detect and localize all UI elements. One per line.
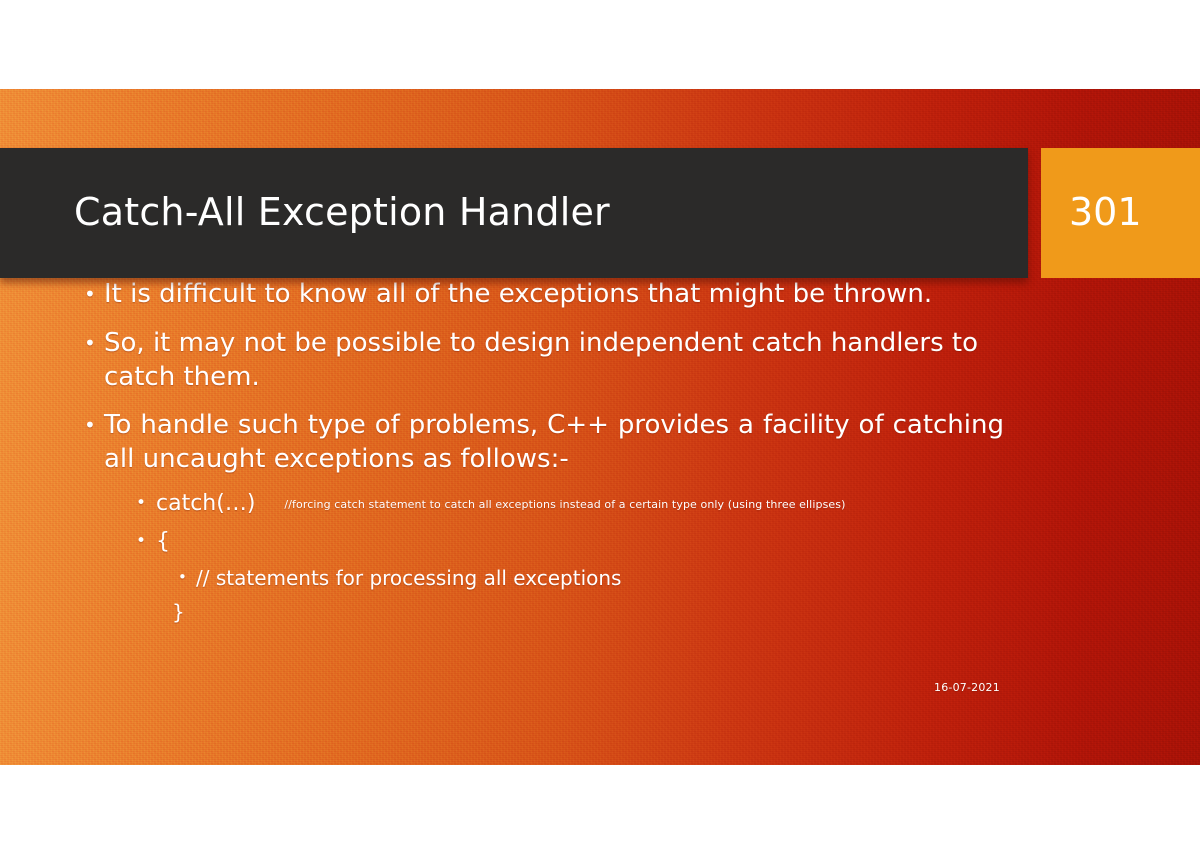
bullet-marker-icon: • [178,565,187,589]
slide-date-stamp: 16-07-2021 [934,681,1000,694]
slide-number-badge: 301 [1041,148,1200,278]
bullet-item-3: • To handle such type of problems, C++ p… [74,409,1004,477]
bullet-item-1: • It is difficult to know all of the exc… [74,278,1004,312]
code-line-open-brace: • { [130,528,1200,557]
bullet-text-2: So, it may not be possible to design ind… [104,328,978,392]
code-inner-statement: // statements for processing all excepti… [196,566,621,590]
bullet-list: • It is difficult to know all of the exc… [74,278,1004,477]
slide-body: • It is difficult to know all of the exc… [0,278,1200,625]
code-line-catch: • catch(…) //forcing catch statement to … [130,490,1200,519]
bullet-text-3: To handle such type of problems, C++ pro… [104,410,1004,474]
bullet-marker-icon: • [136,528,146,554]
code-inner-block: • // statements for processing all excep… [172,565,1200,591]
bullet-marker-icon: • [136,490,146,516]
slide-number: 301 [1041,192,1142,234]
code-block: • catch(…) //forcing catch statement to … [130,490,1200,556]
bullet-item-2: • So, it may not be possible to design i… [74,327,1004,395]
code-catch-keyword: catch(…) [156,491,255,516]
code-open-brace: { [156,529,170,554]
bullet-marker-icon: • [84,327,96,360]
bullet-text-1: It is difficult to know all of the excep… [104,279,932,309]
code-close-brace: } [172,599,1200,625]
code-catch-comment: //forcing catch statement to catch all e… [284,498,845,511]
bullet-marker-icon: • [84,409,96,442]
slide-title: Catch-All Exception Handler [0,192,610,234]
code-line-statement: • // statements for processing all excep… [172,565,1200,591]
presentation-slide: Catch-All Exception Handler 301 • It is … [0,89,1200,765]
bullet-marker-icon: • [84,278,96,311]
slide-title-band: Catch-All Exception Handler [0,148,1028,278]
screenshot-canvas: Catch-All Exception Handler 301 • It is … [0,0,1200,849]
